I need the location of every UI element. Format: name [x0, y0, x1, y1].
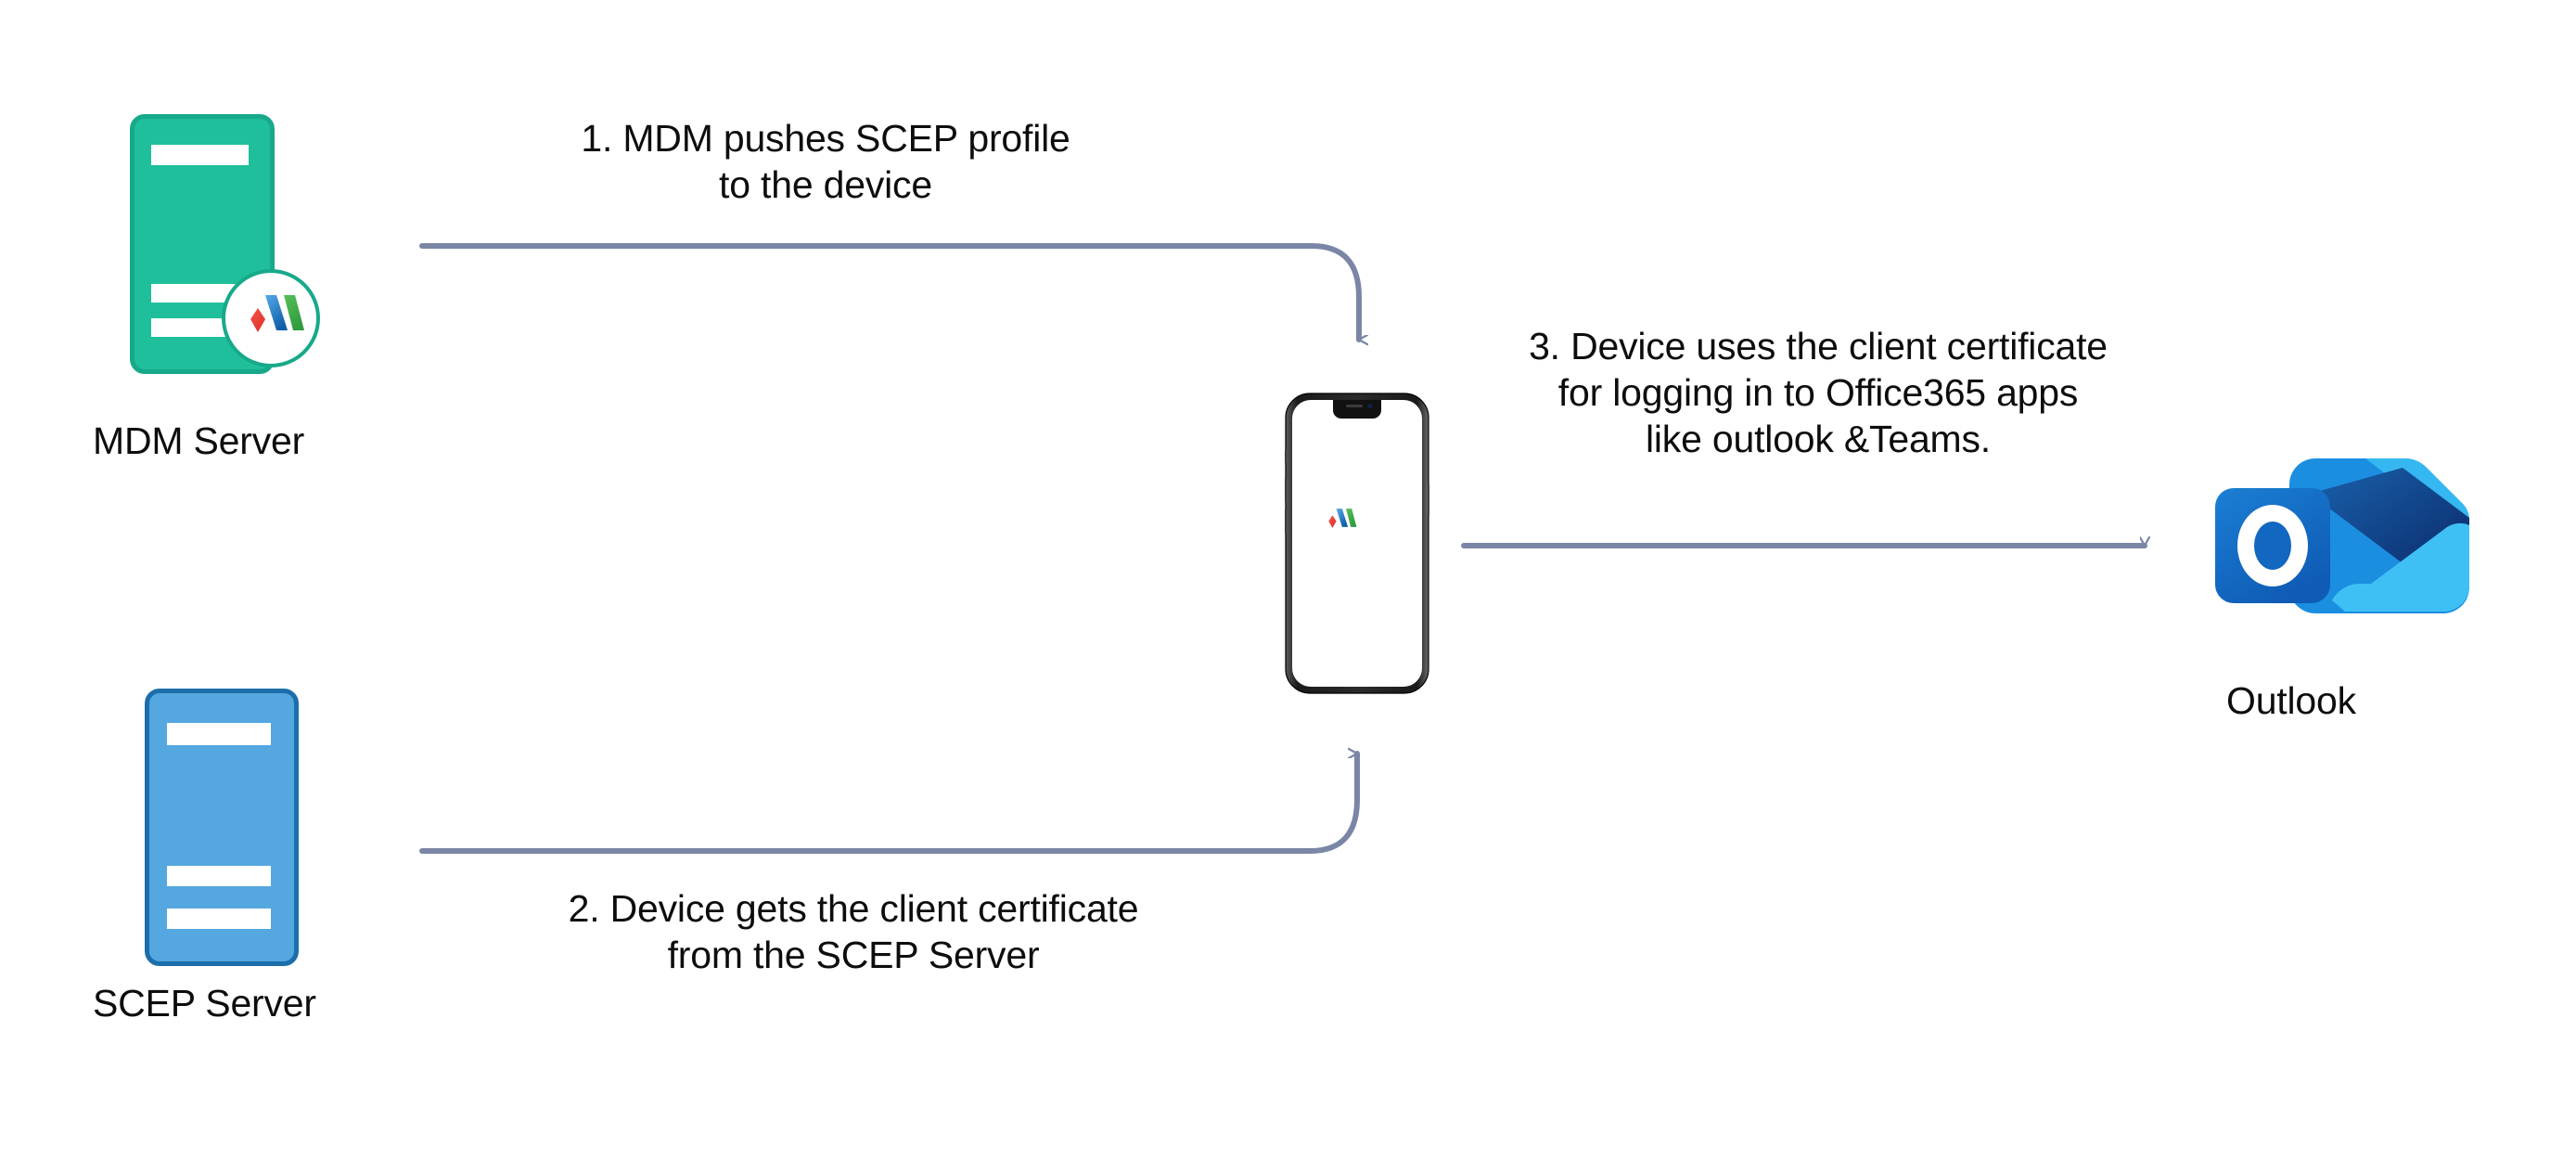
- iphone-device-icon: [1285, 393, 1429, 694]
- server-slot: [151, 145, 249, 165]
- step-3-line-2: for logging in to Office365 apps: [1452, 369, 2185, 416]
- mdm-server-label: MDM Server: [93, 419, 304, 463]
- step-2-line-2: from the SCEP Server: [482, 932, 1224, 978]
- step-3-caption: 3. Device uses the client certificate fo…: [1452, 323, 2185, 462]
- step-2-line-1: 2. Device gets the client certificate: [482, 885, 1224, 932]
- outlook-label: Outlook: [2226, 679, 2356, 723]
- arrow-step-1: [422, 246, 1359, 340]
- outlook-icon: [2206, 453, 2475, 638]
- scep-server-label: SCEP Server: [93, 982, 316, 1025]
- step-3-line-3: like outlook &Teams.: [1452, 416, 2185, 462]
- step-1-caption: 1. MDM pushes SCEP profile to the device: [501, 115, 1150, 208]
- server-tower-icon: [145, 689, 299, 966]
- outlook-app-node: Outlook: [2206, 453, 2475, 638]
- server-slot: [167, 909, 271, 929]
- step-3-line-1: 3. Device uses the client certificate: [1452, 323, 2185, 369]
- step-1-line-2: to the device: [501, 161, 1150, 208]
- step-1-line-1: 1. MDM pushes SCEP profile: [501, 115, 1150, 161]
- step-2-caption: 2. Device gets the client certificate fr…: [482, 885, 1224, 978]
- manageengine-logo-icon: [222, 269, 320, 367]
- server-slot: [167, 866, 271, 886]
- diagram-canvas: MDM Server SCEP Server: [0, 0, 2576, 1160]
- server-slot: [167, 723, 271, 745]
- arrow-step-2: [422, 754, 1357, 851]
